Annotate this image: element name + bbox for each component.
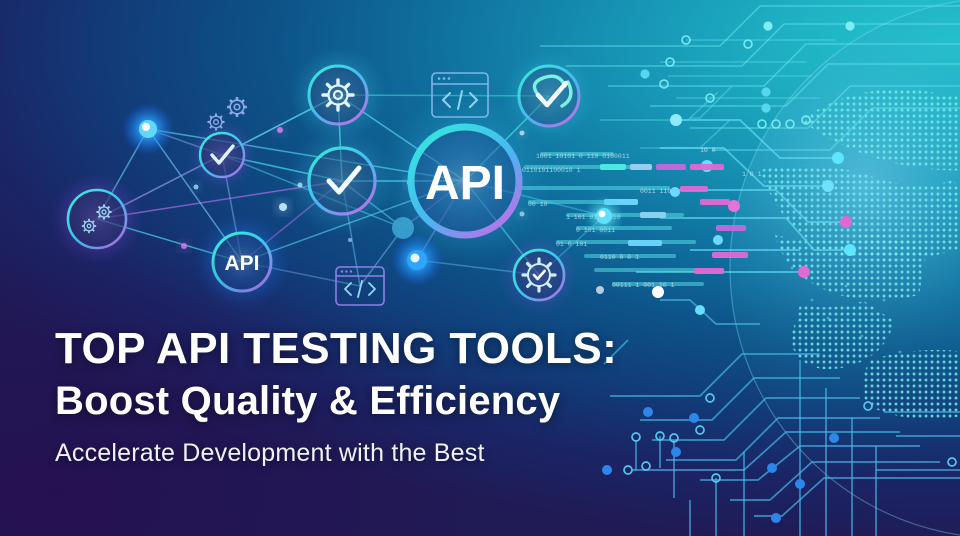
node-check-small[interactable] — [188, 121, 256, 189]
page-title: TOP API TESTING TOOLS: — [55, 326, 675, 373]
page-tagline: Accelerate Development with the Best — [55, 439, 675, 468]
node-api-small[interactable]: API — [194, 214, 290, 310]
page-subtitle: Boost Quality & Efficiency — [55, 379, 675, 423]
node-gears-left[interactable] — [51, 173, 143, 265]
api-small-label: API — [224, 252, 259, 275]
headline-block: TOP API TESTING TOOLS: Boost Quality & E… — [55, 326, 675, 468]
code-window-bottom — [336, 267, 384, 305]
node-api-central[interactable]: API — [379, 95, 551, 267]
hero-banner: 1001 10101 0 110 0100011 0110101100010 1… — [0, 0, 960, 536]
api-central-label: API — [425, 157, 505, 210]
